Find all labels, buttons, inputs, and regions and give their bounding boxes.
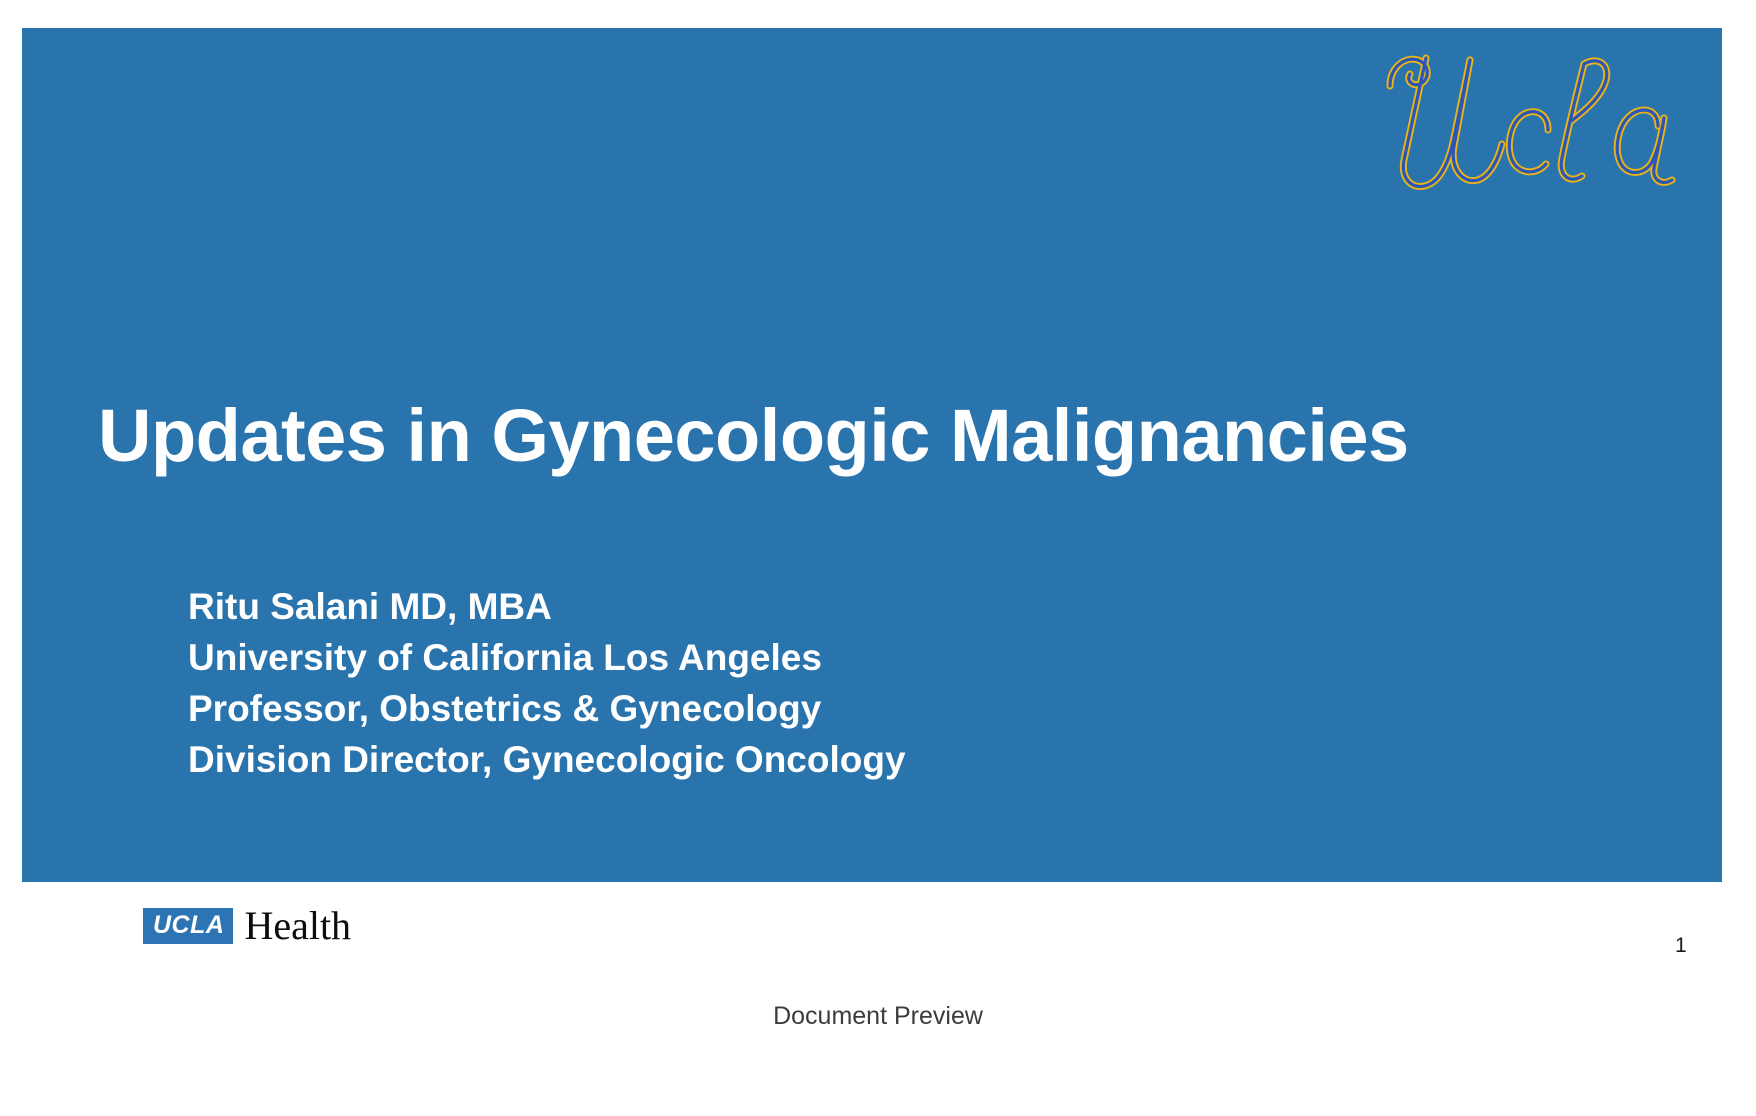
ucla-health-badge: UCLA (143, 908, 233, 944)
document-preview-page: Updates in Gynecologic Malignancies Ritu… (0, 0, 1756, 1116)
slide-footer-area: UCLA Health 1 Document Preview (0, 882, 1756, 1116)
ucla-health-wordmark: Health (244, 906, 351, 946)
presenter-title: Professor, Obstetrics & Gynecology (188, 683, 906, 734)
slide-canvas: Updates in Gynecologic Malignancies Ritu… (22, 28, 1722, 882)
slide-page-number: 1 (1675, 934, 1687, 958)
presenter-role: Division Director, Gynecologic Oncology (188, 734, 906, 785)
presenter-name: Ritu Salani MD, MBA (188, 581, 906, 632)
ucla-script-logo (1370, 34, 1700, 216)
ucla-health-logo: UCLA Health (143, 906, 351, 946)
slide-title: Updates in Gynecologic Malignancies (98, 396, 1678, 476)
document-preview-caption: Document Preview (0, 1002, 1756, 1031)
presenter-institution: University of California Los Angeles (188, 632, 906, 683)
presenter-info-block: Ritu Salani MD, MBA University of Califo… (188, 581, 906, 785)
